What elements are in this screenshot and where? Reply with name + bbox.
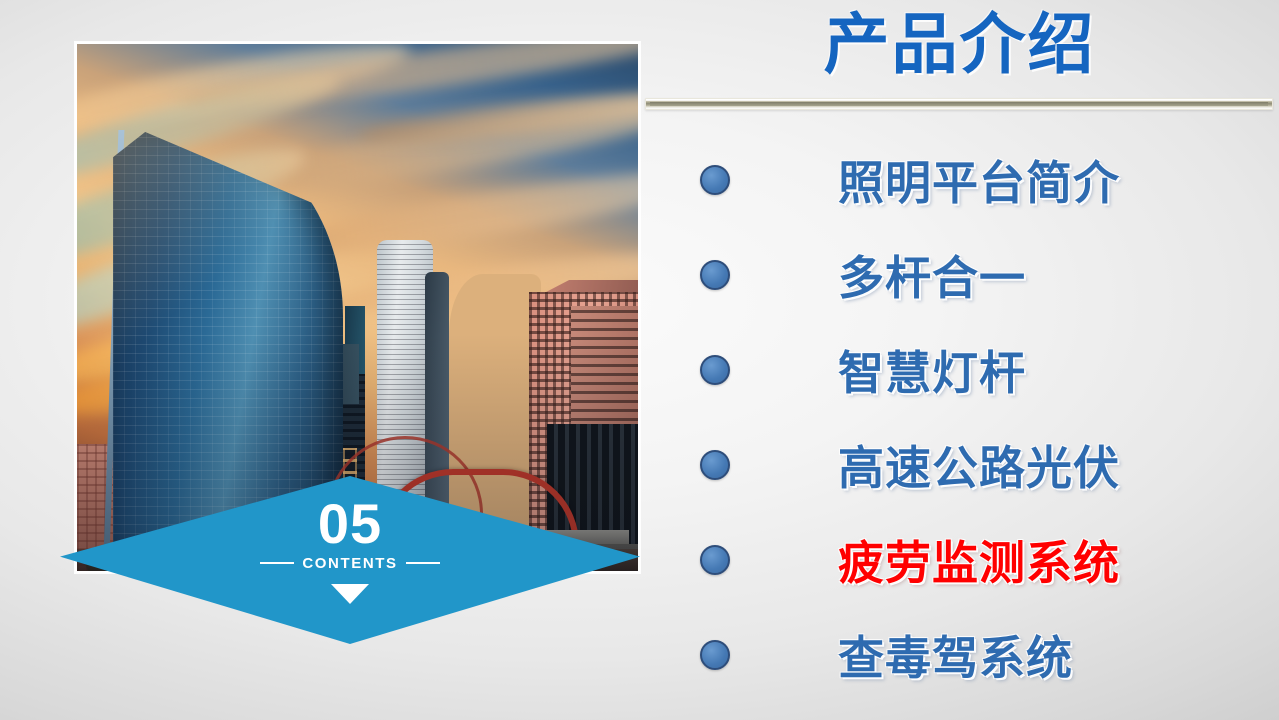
list-item[interactable]: 照明平台简介 bbox=[700, 132, 1260, 227]
bullet-circle-icon bbox=[700, 165, 730, 195]
list-item-label: 多杆合一 bbox=[838, 242, 1026, 308]
bullet-circle-icon bbox=[700, 355, 730, 385]
list-item-label: 智慧灯杆 bbox=[838, 337, 1026, 403]
agenda-list: 照明平台简介 多杆合一 智慧灯杆 高速公路光伏 疲劳监测系统 查毒驾系统 bbox=[700, 132, 1260, 702]
bullet-circle-icon bbox=[700, 640, 730, 670]
list-item-highlighted[interactable]: 疲劳监测系统 bbox=[700, 512, 1260, 607]
list-item-label: 照明平台简介 bbox=[838, 147, 1120, 213]
presentation-slide: 05 CONTENTS 产品介绍 照明平台简介 多杆合一 智慧灯杆 高速公路光伏 bbox=[0, 0, 1279, 720]
title-divider bbox=[645, 98, 1273, 110]
list-item[interactable]: 智慧灯杆 bbox=[700, 322, 1260, 417]
bullet-circle-icon bbox=[700, 260, 730, 290]
list-item-label: 查毒驾系统 bbox=[838, 622, 1073, 688]
bullet-circle-icon bbox=[700, 545, 730, 575]
list-item[interactable]: 高速公路光伏 bbox=[700, 417, 1260, 512]
list-item[interactable]: 多杆合一 bbox=[700, 227, 1260, 322]
list-item-label: 高速公路光伏 bbox=[838, 432, 1120, 498]
list-item[interactable]: 查毒驾系统 bbox=[700, 607, 1260, 702]
bullet-circle-icon bbox=[700, 450, 730, 480]
page-title: 产品介绍 bbox=[640, 4, 1279, 85]
list-item-label: 疲劳监测系统 bbox=[838, 527, 1120, 593]
